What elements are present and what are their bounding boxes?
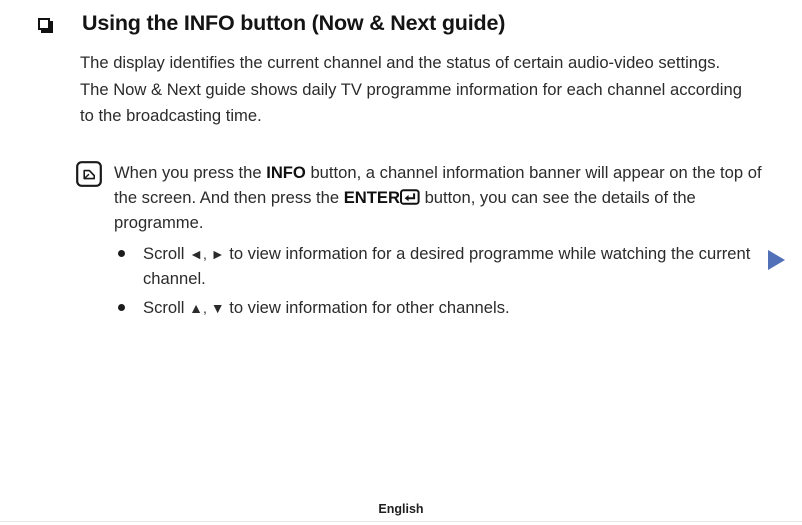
next-page-triangle-icon[interactable] [768, 250, 785, 270]
list-item-text: Scroll ▲, ▼ to view information for othe… [143, 295, 763, 320]
list-item-text-before: Scroll [143, 298, 189, 317]
note-pencil-icon [76, 161, 102, 187]
round-bullet-icon [118, 304, 125, 311]
note-emphasis-info: INFO [266, 163, 306, 182]
note-emphasis-enter: ENTER [344, 188, 400, 207]
square-outline-shadow-icon [38, 18, 53, 33]
paragraph-1: The display identifies the current chann… [80, 50, 752, 76]
intro-paragraphs: The display identifies the current chann… [80, 50, 752, 129]
list-item: Scroll ▲, ▼ to view information for othe… [118, 295, 763, 320]
note-block: When you press the INFO button, a channe… [76, 160, 766, 235]
list-item-text-before: Scroll [143, 244, 189, 263]
left-right-arrow-icons: ◄, ► [189, 246, 225, 262]
list-item-text: Scroll ◄, ► to view information for a de… [143, 241, 763, 291]
page-title-row: Using the INFO button (Now & Next guide) [38, 8, 505, 40]
page-title: Using the INFO button (Now & Next guide) [82, 12, 505, 36]
note-text-part1: When you press the [114, 163, 266, 182]
enter-return-key-icon [400, 187, 419, 202]
paragraph-2: The Now & Next guide shows daily TV prog… [80, 77, 752, 129]
list-item-text-after: to view information for a desired progra… [143, 244, 750, 288]
list-item-text-after: to view information for other channels. [225, 298, 510, 317]
footer-language: English [0, 502, 802, 516]
round-bullet-icon [118, 250, 125, 257]
footer-divider [0, 521, 802, 522]
note-text: When you press the INFO button, a channe… [114, 160, 766, 235]
list-item: Scroll ◄, ► to view information for a de… [118, 241, 763, 291]
manual-page: Using the INFO button (Now & Next guide)… [0, 0, 802, 525]
bullet-list: Scroll ◄, ► to view information for a de… [118, 241, 763, 320]
up-down-arrow-icons: ▲, ▼ [189, 300, 225, 316]
